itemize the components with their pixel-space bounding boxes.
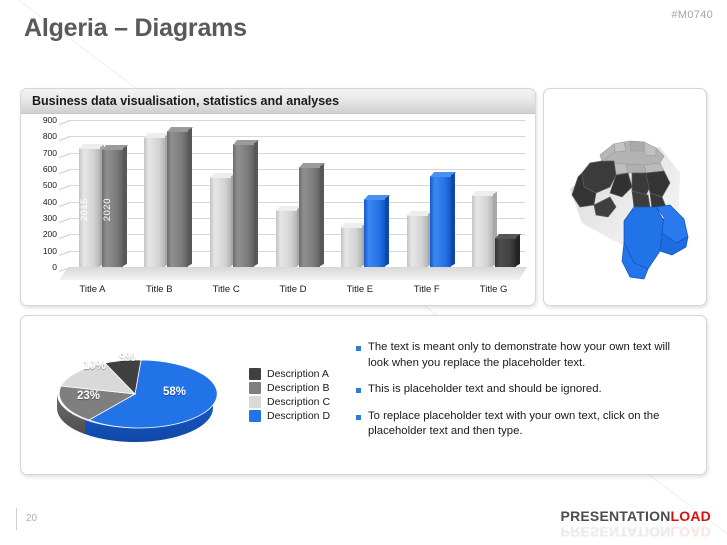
bar-title-f-2020[interactable] bbox=[430, 176, 451, 267]
y-axis-tick: 200 bbox=[21, 229, 57, 239]
pie-label-a: 9% bbox=[119, 352, 136, 364]
bar-face bbox=[495, 238, 516, 267]
chart-card-title: Business data visualisation, statistics … bbox=[32, 94, 339, 108]
bar-face bbox=[472, 195, 493, 267]
bar-title-c-2020[interactable] bbox=[233, 144, 254, 267]
pie-chart-svg bbox=[45, 334, 235, 458]
page-title: Algeria – Diagrams bbox=[24, 14, 247, 43]
bar-side bbox=[385, 196, 389, 266]
y-axis-tick: 0 bbox=[21, 262, 57, 272]
bottom-card: 58% 23% 10% 9% Description ADescription … bbox=[20, 315, 707, 475]
legend-item[interactable]: Description A bbox=[249, 368, 330, 380]
bar-title-d-2015[interactable] bbox=[276, 210, 297, 267]
pie-label-d: 58% bbox=[163, 386, 186, 398]
bar-group bbox=[265, 120, 331, 267]
legend-item[interactable]: Description C bbox=[249, 396, 330, 408]
bar-face bbox=[407, 215, 428, 267]
chart-floor bbox=[59, 267, 527, 280]
bar-series-label-2020: 2020 bbox=[102, 198, 123, 221]
bullet-text: To replace placeholder text with your ow… bbox=[368, 409, 691, 440]
slide-canvas: Algeria – Diagrams #M0740 Business data … bbox=[0, 0, 727, 545]
legend-label: Description A bbox=[267, 368, 329, 380]
page-number: 20 bbox=[26, 513, 37, 524]
y-axis-tick: 400 bbox=[21, 197, 57, 207]
x-axis-label: Title F bbox=[393, 284, 460, 295]
pie-label-c: 10% bbox=[83, 360, 106, 372]
plot-area: 20152020 bbox=[59, 120, 527, 280]
bar-group bbox=[330, 120, 396, 267]
bar-title-a-2015[interactable]: 2015 bbox=[79, 148, 100, 267]
bullet-list: The text is meant only to demonstrate ho… bbox=[356, 340, 691, 451]
legend-swatch bbox=[249, 396, 261, 408]
y-axis: 9008007006005004003002001000 bbox=[21, 120, 57, 280]
y-axis-tick: 600 bbox=[21, 164, 57, 174]
y-axis-tick: 900 bbox=[21, 115, 57, 125]
y-axis-tick: 100 bbox=[21, 246, 57, 256]
logo-reflection-load: LOAD bbox=[671, 524, 711, 540]
legend-label: Description B bbox=[267, 382, 329, 394]
chart-card: Business data visualisation, statistics … bbox=[20, 88, 536, 306]
bar-side bbox=[188, 128, 192, 267]
algeria-map[interactable] bbox=[544, 89, 707, 306]
bullet-item[interactable]: To replace placeholder text with your ow… bbox=[356, 409, 691, 440]
bar-group bbox=[199, 120, 265, 267]
presentationload-logo: PRESENTATIONLOAD PRESENTATIONLOAD bbox=[561, 508, 711, 540]
bar-title-b-2015[interactable] bbox=[144, 137, 165, 267]
bar-title-a-2020[interactable]: 2020 bbox=[102, 149, 123, 267]
y-axis-tick: 700 bbox=[21, 148, 57, 158]
bar-face bbox=[276, 210, 297, 267]
bar-group bbox=[461, 120, 527, 267]
legend-item[interactable]: Description B bbox=[249, 382, 330, 394]
pie-chart: 58% 23% 10% 9% bbox=[45, 334, 235, 458]
legend-label: Description C bbox=[267, 396, 330, 408]
bullet-marker-icon bbox=[356, 415, 361, 420]
bar-side bbox=[254, 141, 258, 266]
legend-label: Description D bbox=[267, 410, 330, 422]
bar-title-c-2015[interactable] bbox=[210, 177, 231, 267]
logo-reflection: PRESENTATIONLOAD bbox=[561, 524, 711, 540]
legend-swatch bbox=[249, 382, 261, 394]
bar-title-e-2015[interactable] bbox=[341, 227, 362, 267]
bar-face bbox=[144, 137, 165, 267]
bar-group bbox=[134, 120, 200, 267]
bar-face bbox=[299, 167, 320, 267]
algeria-map-svg bbox=[552, 111, 700, 289]
x-axis: Title ATitle BTitle CTitle DTitle ETitle… bbox=[59, 284, 527, 295]
bar-title-f-2015[interactable] bbox=[407, 215, 428, 267]
bar-face bbox=[430, 176, 451, 267]
bar-title-g-2020[interactable] bbox=[495, 238, 516, 267]
page-number-rule bbox=[16, 508, 17, 530]
logo-text: PRESENTATIONLOAD bbox=[561, 508, 711, 524]
bar-side bbox=[516, 235, 520, 266]
bullet-marker-icon bbox=[356, 388, 361, 393]
bar-face bbox=[341, 227, 362, 267]
x-axis-label: Title D bbox=[260, 284, 327, 295]
bullet-text: The text is meant only to demonstrate ho… bbox=[368, 340, 691, 371]
x-axis-label: Title G bbox=[460, 284, 527, 295]
legend-swatch bbox=[249, 368, 261, 380]
y-axis-tick: 800 bbox=[21, 131, 57, 141]
bullet-marker-icon bbox=[356, 346, 361, 351]
map-region-blue bbox=[622, 205, 688, 279]
bullet-text: This is placeholder text and should be i… bbox=[368, 382, 602, 398]
bar-face bbox=[167, 131, 188, 267]
y-axis-tick: 500 bbox=[21, 180, 57, 190]
bar-chart: PRESENTATIONLOAD 90080070060050040030020… bbox=[21, 114, 536, 306]
bar-title-e-2020[interactable] bbox=[364, 199, 385, 267]
x-axis-label: Title A bbox=[59, 284, 126, 295]
x-axis-label: Title E bbox=[326, 284, 393, 295]
pie-legend: Description ADescription BDescription CD… bbox=[249, 368, 330, 422]
bar-series-label-2015: 2015 bbox=[79, 198, 100, 221]
bar-groups: 20152020 bbox=[68, 120, 527, 267]
bullet-item[interactable]: This is placeholder text and should be i… bbox=[356, 382, 691, 398]
bar-side bbox=[123, 146, 127, 266]
x-axis-label: Title B bbox=[126, 284, 193, 295]
bar-group bbox=[396, 120, 462, 267]
bar-side bbox=[320, 163, 324, 266]
logo-reflection-presentation: PRESENTATION bbox=[561, 524, 671, 540]
bullet-item[interactable]: The text is meant only to demonstrate ho… bbox=[356, 340, 691, 371]
legend-swatch bbox=[249, 410, 261, 422]
logo-text-load: LOAD bbox=[671, 508, 711, 524]
x-axis-label: Title C bbox=[193, 284, 260, 295]
bar-title-d-2020[interactable] bbox=[299, 167, 320, 267]
bar-title-b-2020[interactable] bbox=[167, 131, 188, 267]
logo-text-presentation: PRESENTATION bbox=[561, 508, 671, 524]
legend-item[interactable]: Description D bbox=[249, 410, 330, 422]
map-card bbox=[543, 88, 707, 306]
bar-face bbox=[364, 199, 385, 267]
bar-group: 20152020 bbox=[68, 120, 134, 267]
pie-label-b: 23% bbox=[77, 390, 100, 402]
chart-card-header: Business data visualisation, statistics … bbox=[21, 89, 535, 114]
bar-face bbox=[233, 144, 254, 267]
bar-title-g-2015[interactable] bbox=[472, 195, 493, 267]
bar-face bbox=[210, 177, 231, 267]
bar-side bbox=[451, 172, 455, 266]
y-axis-tick: 300 bbox=[21, 213, 57, 223]
document-code: #M0740 bbox=[671, 9, 713, 21]
